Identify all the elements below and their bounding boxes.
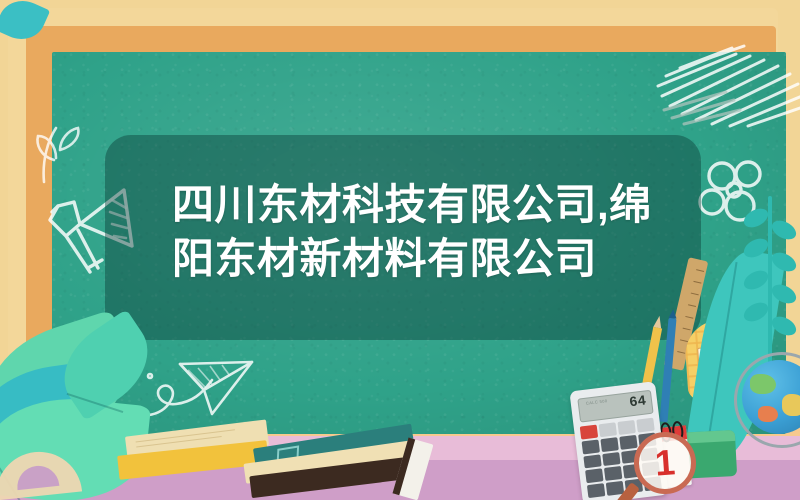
page-title: 四川东材科技有限公司,绵阳东材新材料有限公司 — [172, 178, 692, 286]
calculator-key[interactable] — [636, 418, 654, 433]
calculator-key[interactable] — [582, 439, 600, 454]
magnifier: 1 — [632, 430, 698, 496]
poster-canvas: 四川东材科技有限公司,绵阳东材新材料有限公司 — [0, 0, 800, 500]
calculator-key[interactable] — [587, 483, 605, 498]
magnifier-number: 1 — [632, 430, 698, 496]
calculator-display: CALC 500 64 — [577, 390, 653, 423]
calculator-display-value: 64 — [628, 393, 647, 411]
calculator-key[interactable] — [604, 466, 622, 481]
sprig-right — [742, 196, 798, 366]
calculator-key[interactable] — [602, 452, 620, 467]
calculator-key-ac[interactable] — [580, 425, 598, 440]
calculator-key[interactable] — [585, 469, 603, 484]
calculator-brand: CALC 500 — [586, 398, 608, 406]
calculator-key[interactable] — [583, 454, 601, 469]
calculator-key[interactable] — [599, 422, 617, 437]
calculator-key[interactable] — [600, 437, 618, 452]
calculator-key[interactable] — [617, 420, 635, 435]
